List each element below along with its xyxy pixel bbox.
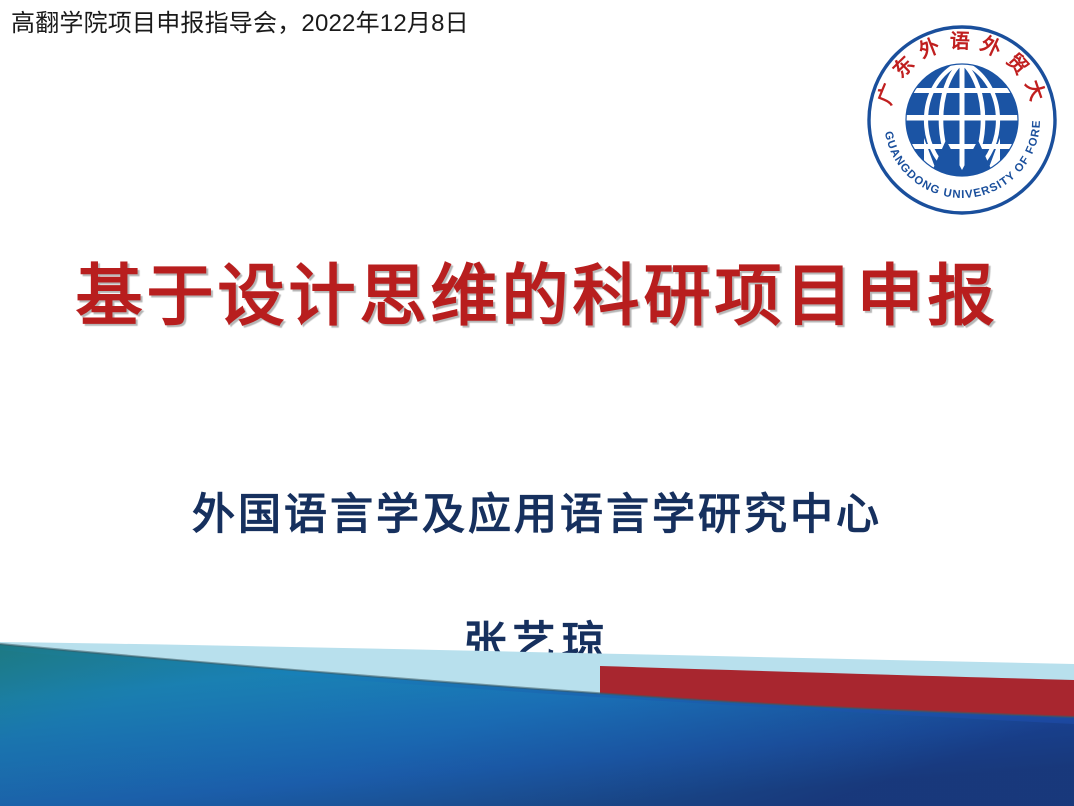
slide-main-title: 基于设计思维的科研项目申报 [0,253,1074,341]
slide-header-text: 高翻学院项目申报指导会，2022年12月8日 [11,9,469,39]
globe-graphic [900,60,1024,180]
slide-organization-name: 外国语言学及应用语言学研究中心 [0,487,1074,545]
presentation-slide: 高翻学院项目申报指导会，2022年12月8日 [0,0,1074,806]
slide-presenter-name: 张艺琼 [0,615,1074,673]
gdufs-emblem-logo: 广东外语外贸大学 GUANGDONG UNIVERSITY OF FOREIGN… [862,20,1062,220]
red-band [600,666,1074,806]
blue-wave-overlay [0,650,1074,806]
